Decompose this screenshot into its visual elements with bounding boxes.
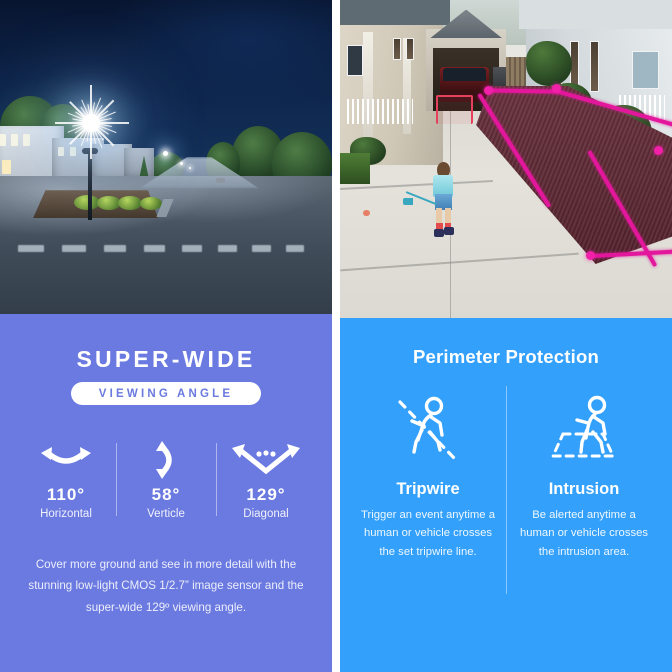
feature-heading: Tripwire: [358, 480, 498, 499]
angle-value: 110°: [47, 485, 85, 505]
roof: [340, 0, 450, 25]
car-windshield: [443, 68, 486, 81]
angle-stats: 110° Horizontal 58° Verticle: [0, 439, 332, 520]
driveway-photo: [340, 0, 672, 318]
window: [0, 134, 6, 146]
feature-description: Be alerted anytime a human or vehicle cr…: [514, 506, 654, 561]
viewing-angle-badge: VIEWING ANGLE: [71, 382, 261, 405]
angle-label: Horizontal: [40, 508, 92, 520]
perimeter-features: Tripwire Trigger an event anytime a huma…: [340, 390, 672, 561]
window: [2, 160, 11, 174]
angle-value: 129°: [246, 485, 285, 505]
window: [70, 147, 76, 156]
feature-intrusion: Intrusion Be alerted anytime a human or …: [506, 390, 662, 561]
zone-vertex-handle[interactable]: [586, 251, 595, 260]
product-feature-poster: SUPER-WIDE VIEWING ANGLE 110° Horizontal: [0, 0, 672, 672]
distant-car: [216, 178, 225, 183]
lamp-post: [88, 152, 92, 220]
distant-streetlight: [189, 167, 191, 169]
hockey-stick-blade: [403, 198, 413, 205]
left-column: SUPER-WIDE VIEWING ANGLE 110° Horizontal: [0, 0, 332, 672]
distant-streetlight: [163, 151, 168, 156]
super-wide-panel: SUPER-WIDE VIEWING ANGLE 110° Horizontal: [0, 314, 332, 672]
window: [347, 45, 364, 77]
ball: [363, 210, 370, 216]
angle-stat-vertical: 58° Verticle: [116, 439, 216, 520]
tripwire-person-icon: [358, 390, 498, 466]
night-street-photo: [0, 0, 332, 314]
zone-vertex-handle[interactable]: [654, 146, 663, 155]
vertical-arc-arrow-icon: [149, 439, 183, 481]
crosswalk-markings: [0, 245, 332, 261]
window: [58, 147, 64, 156]
feature-description: Trigger an event anytime a human or vehi…: [358, 506, 498, 561]
diagonal-v-arrow-icon: [229, 439, 303, 481]
perimeter-protection-panel: Perimeter Protection: [340, 318, 672, 672]
hockey-goal: [436, 95, 473, 124]
angle-label: Verticle: [147, 508, 185, 520]
window: [11, 134, 18, 146]
feature-tripwire: Tripwire Trigger an event anytime a huma…: [350, 390, 506, 561]
roof: [519, 0, 672, 29]
super-wide-description: Cover more ground and see in more detail…: [27, 554, 305, 618]
angle-value: 58°: [152, 485, 181, 505]
feature-heading: Intrusion: [514, 480, 654, 499]
angle-stat-horizontal: 110° Horizontal: [16, 439, 116, 520]
perimeter-protection-title: Perimeter Protection: [340, 346, 672, 368]
roller-skate: [434, 229, 444, 237]
window: [23, 134, 30, 146]
shrub: [526, 41, 572, 86]
window: [393, 38, 401, 60]
roller-skate: [444, 227, 454, 235]
distant-streetlight: [180, 162, 183, 165]
porch-railing: [347, 99, 413, 124]
horizontal-arc-arrow-icon: [37, 439, 95, 481]
window: [590, 41, 599, 92]
window: [632, 51, 659, 89]
lawn: [340, 153, 370, 185]
angle-label: Diagonal: [243, 508, 288, 520]
angle-stat-diagonal: 129° Diagonal: [216, 439, 316, 520]
right-column: Perimeter Protection: [340, 0, 672, 672]
super-wide-title: SUPER-WIDE: [0, 346, 332, 373]
window: [406, 38, 414, 60]
intrusion-zone-person-icon: [514, 390, 654, 466]
child-sock: [436, 223, 443, 229]
